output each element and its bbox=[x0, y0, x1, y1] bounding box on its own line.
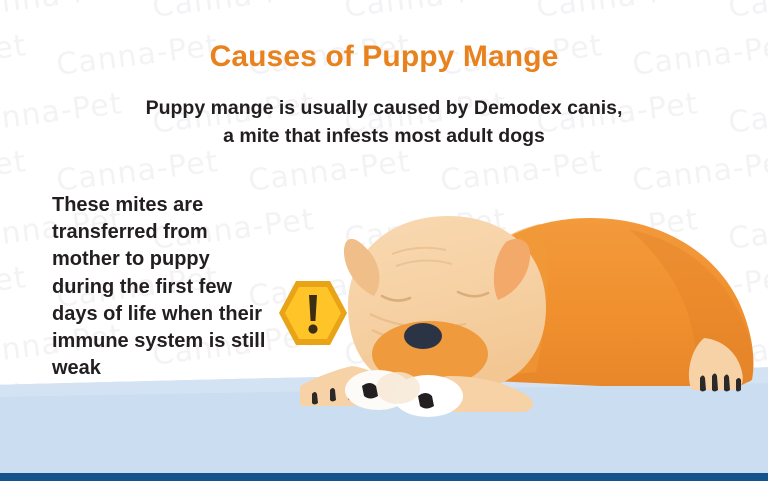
body-paragraph: These mites are transferred from mother … bbox=[52, 192, 267, 382]
bottom-accent-bar bbox=[0, 473, 768, 481]
warning-hexagon-svg bbox=[277, 277, 349, 349]
watermark-text: Canna-Pet bbox=[54, 144, 220, 199]
puppy-svg bbox=[300, 190, 768, 440]
watermark-text: Canna-Pet bbox=[150, 0, 316, 25]
watermark-text: Canna-Pet bbox=[726, 0, 768, 25]
warning-hexagon-icon bbox=[277, 277, 349, 349]
dog-paw-shading bbox=[376, 372, 420, 404]
exclamation-dot bbox=[308, 324, 317, 333]
watermark-text: Canna-Pet bbox=[0, 260, 28, 315]
page-title: Causes of Puppy Mange bbox=[0, 40, 768, 74]
infographic-canvas: Canna-PetCanna-PetCanna-PetCanna-PetCann… bbox=[0, 0, 768, 481]
watermark-text: Canna-Pet bbox=[534, 0, 700, 25]
subtitle-line-2: a mite that infests most adult dogs bbox=[0, 122, 768, 150]
page-subtitle: Puppy mange is usually caused by Demodex… bbox=[0, 94, 768, 151]
subtitle-line-1: Puppy mange is usually caused by Demodex… bbox=[0, 94, 768, 122]
sleeping-puppy-illustration bbox=[300, 190, 768, 440]
watermark-text: Canna-Pet bbox=[0, 0, 124, 25]
watermark-text: Canna-Pet bbox=[342, 0, 508, 25]
watermark-text: Canna-Pet bbox=[0, 144, 28, 199]
dog-nose bbox=[404, 323, 442, 349]
